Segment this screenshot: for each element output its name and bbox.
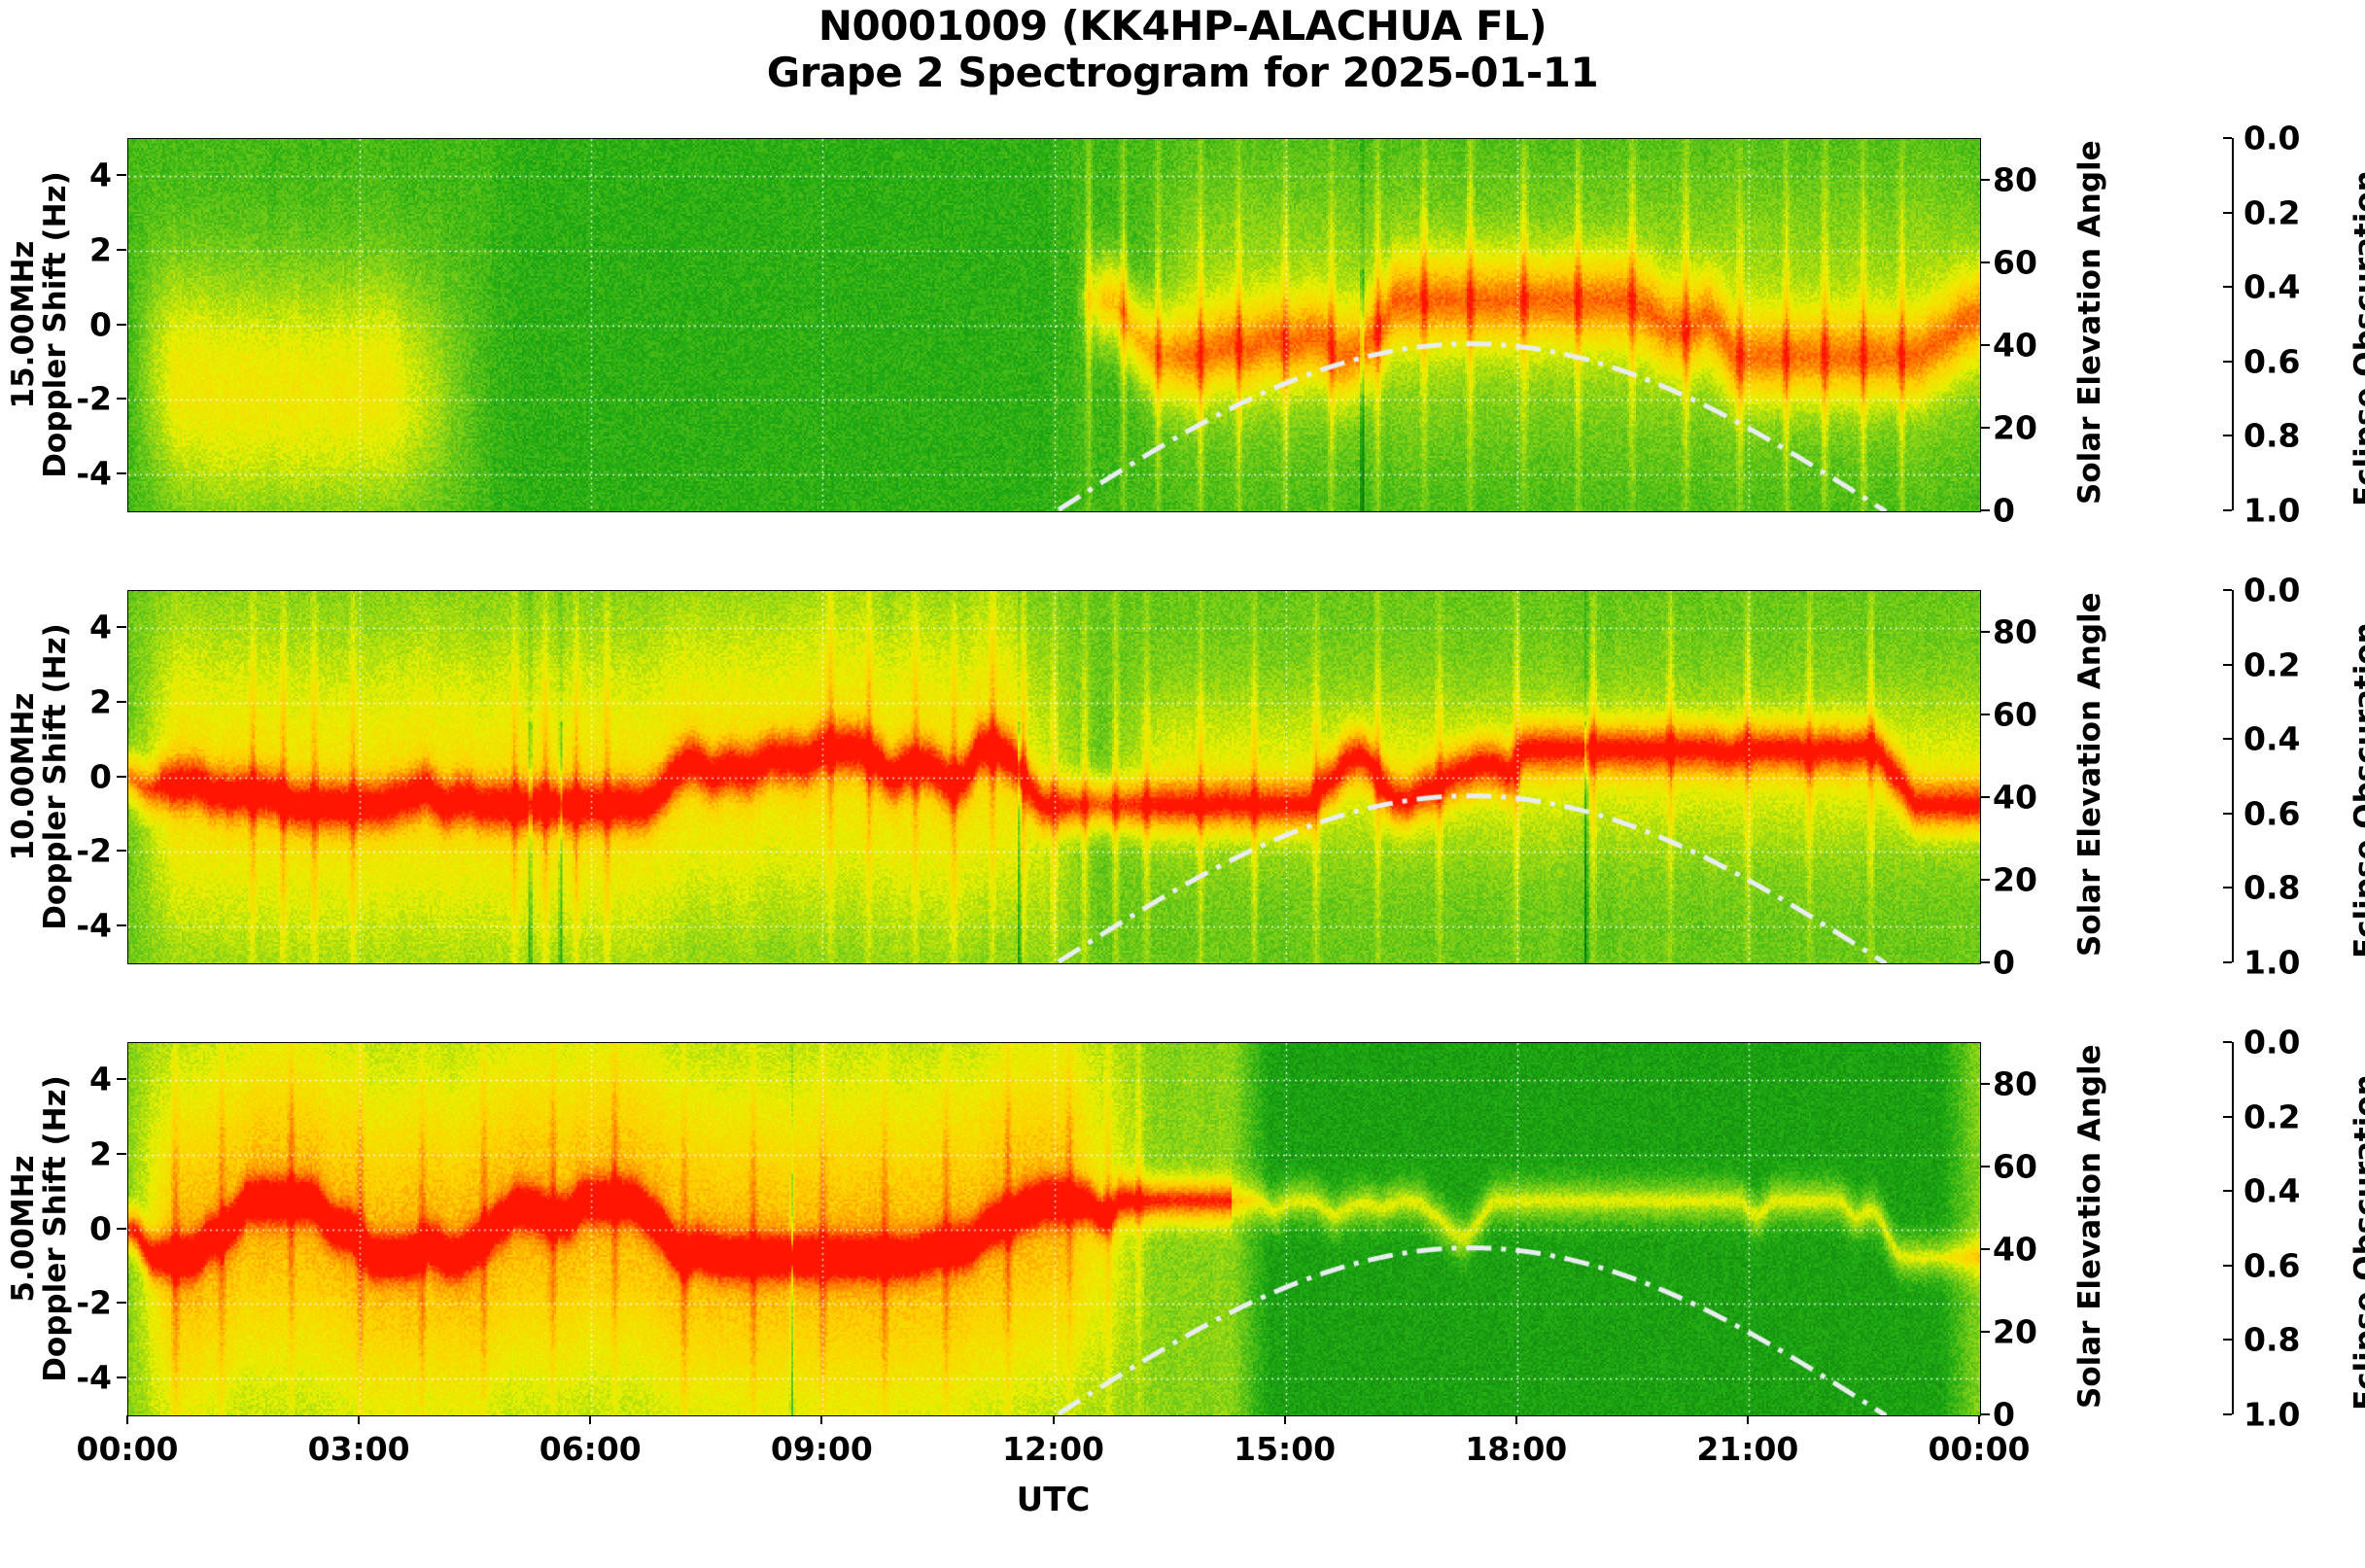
x-tick-8: 00:00 xyxy=(1928,1430,2030,1468)
panel-5mhz-elevation-tickmark-3 xyxy=(1980,1166,1990,1167)
panel-15mhz-obscuration-tick-5: 1.0 xyxy=(2243,492,2300,530)
panel-10mhz-elevation-tickmark-4 xyxy=(1980,631,1990,633)
x-tickmark-5 xyxy=(1284,1415,1286,1424)
panel-15mhz-obscuration-tick-3: 0.6 xyxy=(2243,342,2300,380)
panel-10mhz-elevation-tickmark-3 xyxy=(1980,714,1990,715)
panel-5mhz-obscuration-spine xyxy=(2232,1042,2234,1414)
spectrogram-figure: N0001009 (KK4HP-ALACHUA FL) Grape 2 Spec… xyxy=(0,0,2365,1568)
panel-15mhz-elevation-axis-label: Solar Elevation Angle xyxy=(2072,140,2107,505)
panel-10mhz-elevation-tick-2: 40 xyxy=(1993,778,2037,816)
panel-10mhz-obscuration-tickmark-3 xyxy=(2223,813,2232,815)
panel-10mhz-plot-area[interactable] xyxy=(127,590,1981,964)
panel-5mhz-plot-area[interactable] xyxy=(127,1042,1981,1416)
panel-5mhz-elevation-tickmark-0 xyxy=(1980,1413,1990,1415)
panel-15mhz-elevation-tickmark-3 xyxy=(1980,261,1990,263)
x-axis-label: UTC xyxy=(1017,1481,1091,1519)
panel-10mhz: 420-2-410.00MHzDoppler Shift (Hz)0204060… xyxy=(0,590,2365,962)
panel-10mhz-obscuration-tick-0: 0.0 xyxy=(2243,572,2300,610)
panel-15mhz-obscuration-tick-1: 0.2 xyxy=(2243,193,2300,231)
panel-5mhz-y-tickmark-4 xyxy=(117,1376,126,1378)
x-tick-4: 12:00 xyxy=(1002,1430,1104,1468)
panel-15mhz-spectrogram xyxy=(128,139,1980,511)
panel-15mhz-y-tickmark-3 xyxy=(117,398,126,400)
x-tick-1: 03:00 xyxy=(308,1430,410,1468)
panel-15mhz-y-tickmark-2 xyxy=(117,324,126,326)
panel-15mhz-y-tickmark-1 xyxy=(117,249,126,251)
panel-10mhz-y-axis-label-quantity: Doppler Shift (Hz) xyxy=(40,607,72,947)
panel-15mhz-elevation-tick-2: 40 xyxy=(1993,326,2037,364)
panel-5mhz-obscuration-tick-0: 0.0 xyxy=(2243,1024,2300,1062)
panel-5mhz-obscuration-tick-1: 0.2 xyxy=(2243,1098,2300,1135)
x-tickmark-4 xyxy=(1053,1415,1055,1424)
panel-15mhz-obscuration-spine xyxy=(2232,138,2234,510)
panel-5mhz-elevation-axis-label: Solar Elevation Angle xyxy=(2072,1044,2107,1409)
panel-15mhz-obscuration-tickmark-2 xyxy=(2223,286,2232,288)
x-tick-5: 15:00 xyxy=(1234,1430,1336,1468)
panel-5mhz-obscuration-tick-2: 0.4 xyxy=(2243,1172,2300,1210)
panel-5mhz: 420-2-45.00MHzDoppler Shift (Hz)02040608… xyxy=(0,1042,2365,1414)
panel-15mhz: 420-2-415.00MHzDoppler Shift (Hz)0204060… xyxy=(0,138,2365,510)
panel-15mhz-obscuration-tick-2: 0.4 xyxy=(2243,268,2300,306)
panel-10mhz-obscuration-tick-1: 0.2 xyxy=(2243,645,2300,683)
x-tick-2: 06:00 xyxy=(539,1430,642,1468)
panel-15mhz-elevation-tick-3: 60 xyxy=(1993,243,2037,281)
panel-5mhz-y-axis-label-freq: 5.00MHz xyxy=(8,1059,40,1399)
panel-15mhz-obscuration-tickmark-3 xyxy=(2223,361,2232,363)
panel-5mhz-elevation-tickmark-2 xyxy=(1980,1248,1990,1250)
panel-10mhz-elevation-tick-4: 80 xyxy=(1993,612,2037,650)
panel-10mhz-spectrogram xyxy=(128,591,1980,963)
panel-10mhz-elevation-tick-1: 20 xyxy=(1993,860,2037,898)
panel-10mhz-elevation-tickmark-1 xyxy=(1980,879,1990,881)
panel-10mhz-y-tickmark-0 xyxy=(117,626,126,628)
panel-10mhz-y-tickmark-1 xyxy=(117,701,126,703)
page-subtitle: Grape 2 Spectrogram for 2025-01-11 xyxy=(0,49,2365,96)
panel-10mhz-y-tickmark-3 xyxy=(117,850,126,852)
panel-5mhz-obscuration-tickmark-5 xyxy=(2223,1413,2232,1415)
panel-15mhz-obscuration-tick-4: 0.8 xyxy=(2243,417,2300,455)
panel-5mhz-elevation-tick-1: 20 xyxy=(1993,1312,2037,1350)
panel-10mhz-obscuration-tickmark-5 xyxy=(2223,961,2232,963)
panel-5mhz-obscuration-tickmark-3 xyxy=(2223,1265,2232,1267)
panel-10mhz-obscuration-tickmark-2 xyxy=(2223,738,2232,740)
panel-15mhz-elevation-tickmark-4 xyxy=(1980,179,1990,181)
panel-10mhz-obscuration-tick-5: 1.0 xyxy=(2243,944,2300,982)
panel-5mhz-y-tickmark-3 xyxy=(117,1302,126,1304)
panel-15mhz-y-axis-label-freq: 15.00MHz xyxy=(8,155,40,495)
x-tickmark-2 xyxy=(589,1415,591,1424)
panel-10mhz-elevation-tick-0: 0 xyxy=(1993,944,2015,982)
x-tickmark-0 xyxy=(126,1415,128,1424)
panel-15mhz-plot-area[interactable] xyxy=(127,138,1981,512)
panel-15mhz-obscuration-tick-0: 0.0 xyxy=(2243,120,2300,157)
panel-10mhz-y-tickmark-4 xyxy=(117,924,126,926)
page-title: N0001009 (KK4HP-ALACHUA FL) xyxy=(0,2,2365,50)
x-tick-7: 21:00 xyxy=(1696,1430,1798,1468)
panel-10mhz-obscuration-tickmark-1 xyxy=(2223,664,2232,666)
panel-5mhz-elevation-tickmark-4 xyxy=(1980,1083,1990,1085)
panel-5mhz-obscuration-tickmark-2 xyxy=(2223,1190,2232,1192)
x-tickmark-1 xyxy=(358,1415,360,1424)
panel-15mhz-elevation-tickmark-2 xyxy=(1980,344,1990,346)
panel-15mhz-obscuration-tickmark-4 xyxy=(2223,435,2232,436)
x-tick-3: 09:00 xyxy=(771,1430,873,1468)
panel-15mhz-obscuration-tickmark-0 xyxy=(2223,137,2232,139)
panel-5mhz-spectrogram xyxy=(128,1043,1980,1415)
panel-5mhz-obscuration-tickmark-4 xyxy=(2223,1339,2232,1341)
panel-15mhz-elevation-tick-4: 80 xyxy=(1993,160,2037,198)
x-tickmark-7 xyxy=(1747,1415,1749,1424)
x-tick-0: 00:00 xyxy=(76,1430,178,1468)
panel-10mhz-obscuration-tickmark-4 xyxy=(2223,887,2232,889)
panel-5mhz-obscuration-tickmark-0 xyxy=(2223,1041,2232,1043)
panel-5mhz-elevation-tick-4: 80 xyxy=(1993,1064,2037,1102)
panel-10mhz-elevation-tickmark-0 xyxy=(1980,961,1990,963)
panel-5mhz-obscuration-tick-3: 0.6 xyxy=(2243,1246,2300,1284)
panel-15mhz-elevation-tickmark-0 xyxy=(1980,509,1990,511)
panel-5mhz-y-axis-label: 5.00MHzDoppler Shift (Hz) xyxy=(8,1059,73,1399)
panel-15mhz-obscuration-axis-label: Eclipse Obscuration xyxy=(2348,170,2365,506)
panel-15mhz-elevation-tick-1: 20 xyxy=(1993,408,2037,446)
panel-15mhz-y-axis-label: 15.00MHzDoppler Shift (Hz) xyxy=(8,155,73,495)
panel-10mhz-obscuration-tickmark-0 xyxy=(2223,589,2232,591)
panel-15mhz-y-tickmark-4 xyxy=(117,472,126,474)
panel-10mhz-obscuration-tick-3: 0.6 xyxy=(2243,794,2300,832)
panel-5mhz-elevation-tick-0: 0 xyxy=(1993,1396,2015,1434)
panel-5mhz-obscuration-tick-4: 0.8 xyxy=(2243,1321,2300,1359)
panel-15mhz-obscuration-tickmark-1 xyxy=(2223,212,2232,214)
panel-5mhz-y-tickmark-0 xyxy=(117,1078,126,1080)
panel-5mhz-elevation-tick-3: 60 xyxy=(1993,1147,2037,1185)
panel-10mhz-obscuration-tick-2: 0.4 xyxy=(2243,720,2300,758)
panel-10mhz-elevation-tickmark-2 xyxy=(1980,796,1990,798)
x-tickmark-3 xyxy=(820,1415,822,1424)
panel-5mhz-obscuration-axis-label: Eclipse Obscuration xyxy=(2348,1074,2365,1411)
panel-5mhz-y-tickmark-2 xyxy=(117,1228,126,1230)
panel-15mhz-elevation-tick-0: 0 xyxy=(1993,492,2015,530)
panel-5mhz-obscuration-tick-5: 1.0 xyxy=(2243,1396,2300,1434)
panel-10mhz-y-axis-label-freq: 10.00MHz xyxy=(8,607,40,947)
panel-10mhz-elevation-axis-label: Solar Elevation Angle xyxy=(2072,592,2107,957)
panel-10mhz-obscuration-spine xyxy=(2232,590,2234,962)
x-tickmark-6 xyxy=(1515,1415,1517,1424)
panel-15mhz-obscuration-tickmark-5 xyxy=(2223,509,2232,511)
panel-10mhz-y-axis-label: 10.00MHzDoppler Shift (Hz) xyxy=(8,607,73,947)
panel-10mhz-obscuration-tick-4: 0.8 xyxy=(2243,869,2300,907)
panel-5mhz-y-tickmark-1 xyxy=(117,1153,126,1155)
x-tick-6: 18:00 xyxy=(1465,1430,1567,1468)
panel-10mhz-y-tickmark-2 xyxy=(117,776,126,778)
panel-5mhz-elevation-tickmark-1 xyxy=(1980,1331,1990,1333)
panel-15mhz-elevation-tickmark-1 xyxy=(1980,427,1990,429)
panel-10mhz-elevation-tick-3: 60 xyxy=(1993,695,2037,733)
panel-10mhz-obscuration-axis-label: Eclipse Obscuration xyxy=(2348,622,2365,958)
panel-5mhz-elevation-tick-2: 40 xyxy=(1993,1230,2037,1268)
panel-15mhz-y-tickmark-0 xyxy=(117,174,126,176)
panel-5mhz-y-axis-label-quantity: Doppler Shift (Hz) xyxy=(40,1059,72,1399)
panel-15mhz-y-axis-label-quantity: Doppler Shift (Hz) xyxy=(40,155,72,495)
x-tickmark-8 xyxy=(1978,1415,1980,1424)
panel-5mhz-obscuration-tickmark-1 xyxy=(2223,1116,2232,1118)
